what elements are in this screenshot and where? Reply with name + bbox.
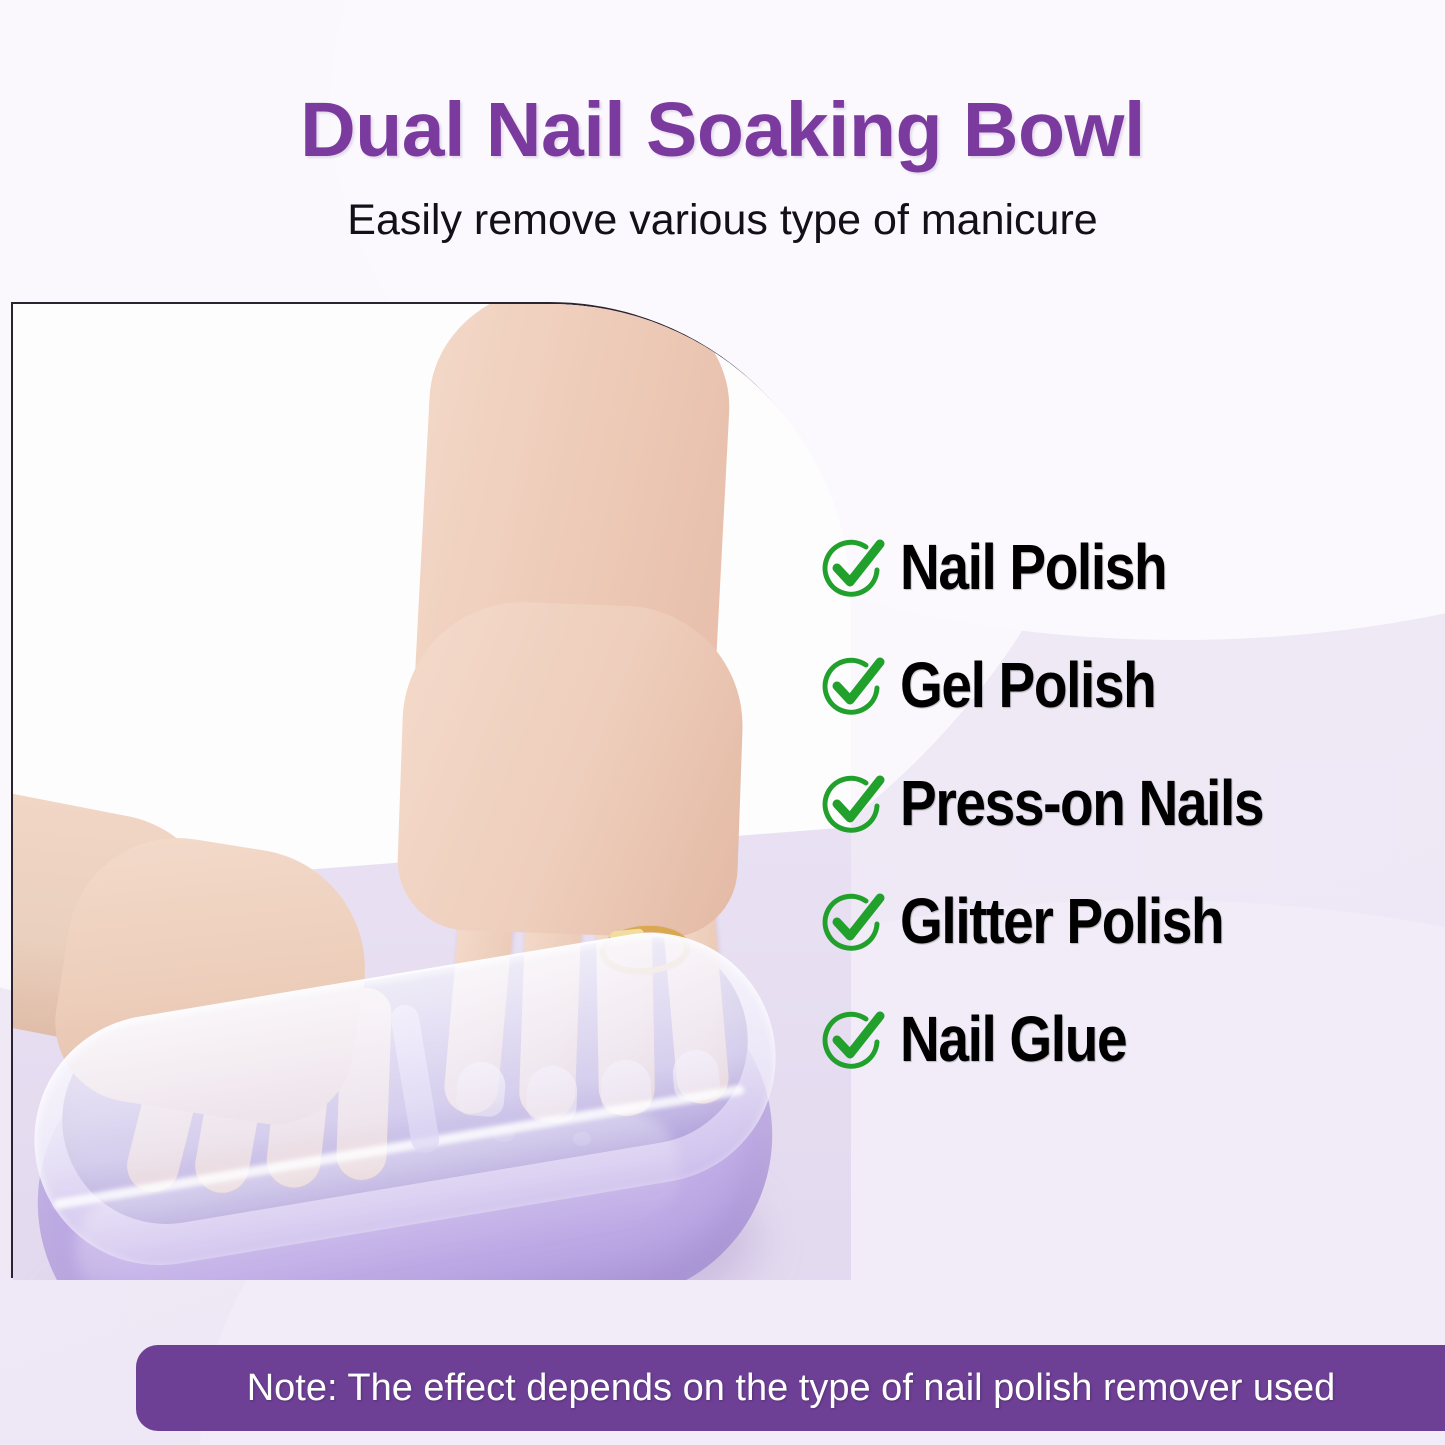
right-hand	[395, 598, 746, 940]
product-photo-frame	[11, 302, 849, 1278]
checklist-item: Glitter Polish	[820, 862, 1445, 980]
green-check-circle-icon	[820, 770, 886, 836]
checklist-item-label: Nail Glue	[900, 1002, 1126, 1076]
checklist-item-label: Nail Polish	[900, 530, 1166, 604]
green-check-circle-icon	[820, 1006, 886, 1072]
benefits-checklist: Nail Polish Gel Polish Press-on Nails	[820, 508, 1445, 1098]
checklist-item-label: Press-on Nails	[900, 766, 1263, 840]
green-check-circle-icon	[820, 888, 886, 954]
product-photo	[13, 304, 851, 1280]
checklist-item: Press-on Nails	[820, 744, 1445, 862]
note-banner: Note: The effect depends on the type of …	[136, 1345, 1445, 1431]
page-title: Dual Nail Soaking Bowl	[0, 86, 1445, 175]
checklist-item: Gel Polish	[820, 626, 1445, 744]
checklist-item: Nail Glue	[820, 980, 1445, 1098]
page-subtitle: Easily remove various type of manicure	[0, 196, 1445, 245]
product-infographic: Dual Nail Soaking Bowl Easily remove var…	[0, 0, 1445, 1445]
green-check-circle-icon	[820, 652, 886, 718]
green-check-circle-icon	[820, 534, 886, 600]
checklist-item-label: Glitter Polish	[900, 884, 1223, 958]
checklist-item: Nail Polish	[820, 508, 1445, 626]
checklist-item-label: Gel Polish	[900, 648, 1155, 722]
note-text: Note: The effect depends on the type of …	[247, 1367, 1346, 1410]
